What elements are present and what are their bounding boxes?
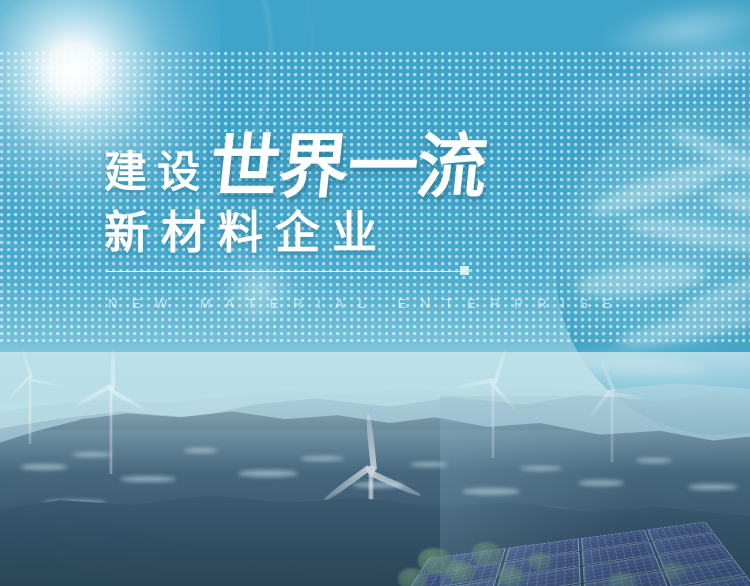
turbine-blade: [111, 348, 115, 388]
turbine-mast: [492, 382, 495, 458]
turbine-mast: [611, 392, 614, 462]
shrub: [446, 560, 474, 582]
hero-banner: 建设 世界一流 新材料企业 NEW MATERIAL ENTERPRISE: [0, 0, 750, 586]
lens-flare-dot: [224, 256, 294, 326]
snow-patch: [120, 476, 176, 482]
turbine-mast: [110, 388, 113, 474]
snow-patch: [578, 480, 624, 486]
shrub: [660, 562, 686, 580]
shrub: [398, 568, 428, 586]
headline-line-2: 新材料企业: [104, 210, 389, 255]
snow-patch: [636, 458, 672, 463]
headline-prefix: 建设: [104, 152, 210, 202]
turbine-right: [592, 392, 632, 462]
snow-patch: [462, 488, 520, 495]
turbine-hub: [610, 390, 615, 395]
turbine-mast: [29, 378, 32, 444]
headline-emphasis: 世界一流: [206, 132, 489, 202]
turbine-left: [88, 388, 134, 474]
shrub: [472, 542, 502, 566]
snow-patch: [410, 462, 448, 467]
shrub: [528, 552, 552, 570]
turbine-mid-right: [472, 382, 514, 458]
snow-patch: [184, 448, 218, 453]
snow-patch: [520, 466, 562, 471]
snow-patch: [688, 484, 738, 490]
turbine-hub: [108, 385, 114, 391]
headline-line-1: 建设 世界一流: [104, 132, 486, 202]
snow-patch: [20, 464, 68, 470]
turbine-blade: [588, 390, 612, 419]
headline-divider-cap: [460, 266, 469, 275]
headline-divider: [106, 271, 466, 272]
snow-patch: [300, 456, 344, 461]
headline-subline: NEW MATERIAL ENTERPRISE: [108, 297, 626, 310]
turbine-far-left: [12, 378, 48, 444]
turbine-hub: [490, 379, 496, 385]
turbine-hub: [28, 376, 33, 381]
shrub: [498, 566, 524, 586]
snow-patch: [238, 470, 298, 477]
turbine-hub: [367, 466, 376, 475]
turbine-blade: [8, 376, 30, 400]
